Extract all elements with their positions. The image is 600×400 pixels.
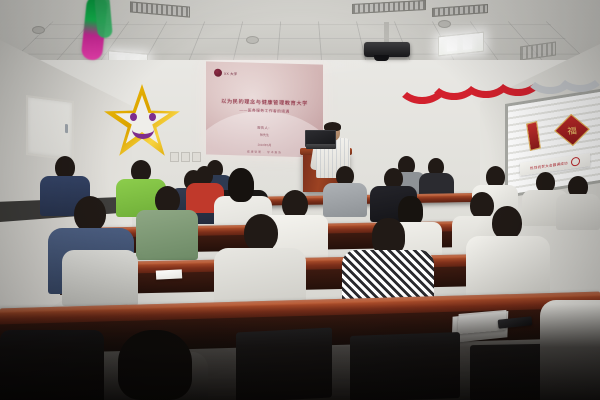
seal-icon — [571, 156, 580, 166]
smoke-detector-icon — [32, 26, 45, 34]
lecture-hall-photo: 福 热烈祝贺大会圆满成功 XX 大学 以为民的理念与健康管理教育大学 ——医务服… — [0, 0, 600, 400]
wall-sticker — [181, 152, 190, 162]
wall-sticker — [170, 152, 179, 162]
chair-back — [236, 327, 332, 400]
star-smile-icon — [132, 120, 154, 139]
slide-university-logo: XX 大学 — [214, 69, 237, 78]
projector-lens-icon — [374, 55, 389, 61]
smoke-detector-icon — [246, 36, 259, 44]
fu-character-label: 福 — [560, 119, 584, 141]
laptop-base — [306, 144, 336, 149]
banner-text: 热烈祝贺大会圆满成功 — [530, 160, 568, 170]
projector-mount-pole — [384, 22, 389, 44]
hanging-tinsel-garland — [94, 0, 113, 39]
wall-access-panel — [26, 95, 74, 161]
chair-back — [350, 332, 460, 400]
logo-text: XX 大学 — [224, 70, 237, 75]
wall-sticker — [192, 152, 201, 162]
panel-latch-icon — [65, 124, 68, 133]
tinsel-star-decoration — [104, 84, 180, 158]
smoke-detector-icon — [438, 20, 451, 28]
logo-mark-icon — [214, 69, 222, 77]
paper-sheet — [156, 269, 182, 279]
red-tinsel-garland — [395, 52, 600, 88]
